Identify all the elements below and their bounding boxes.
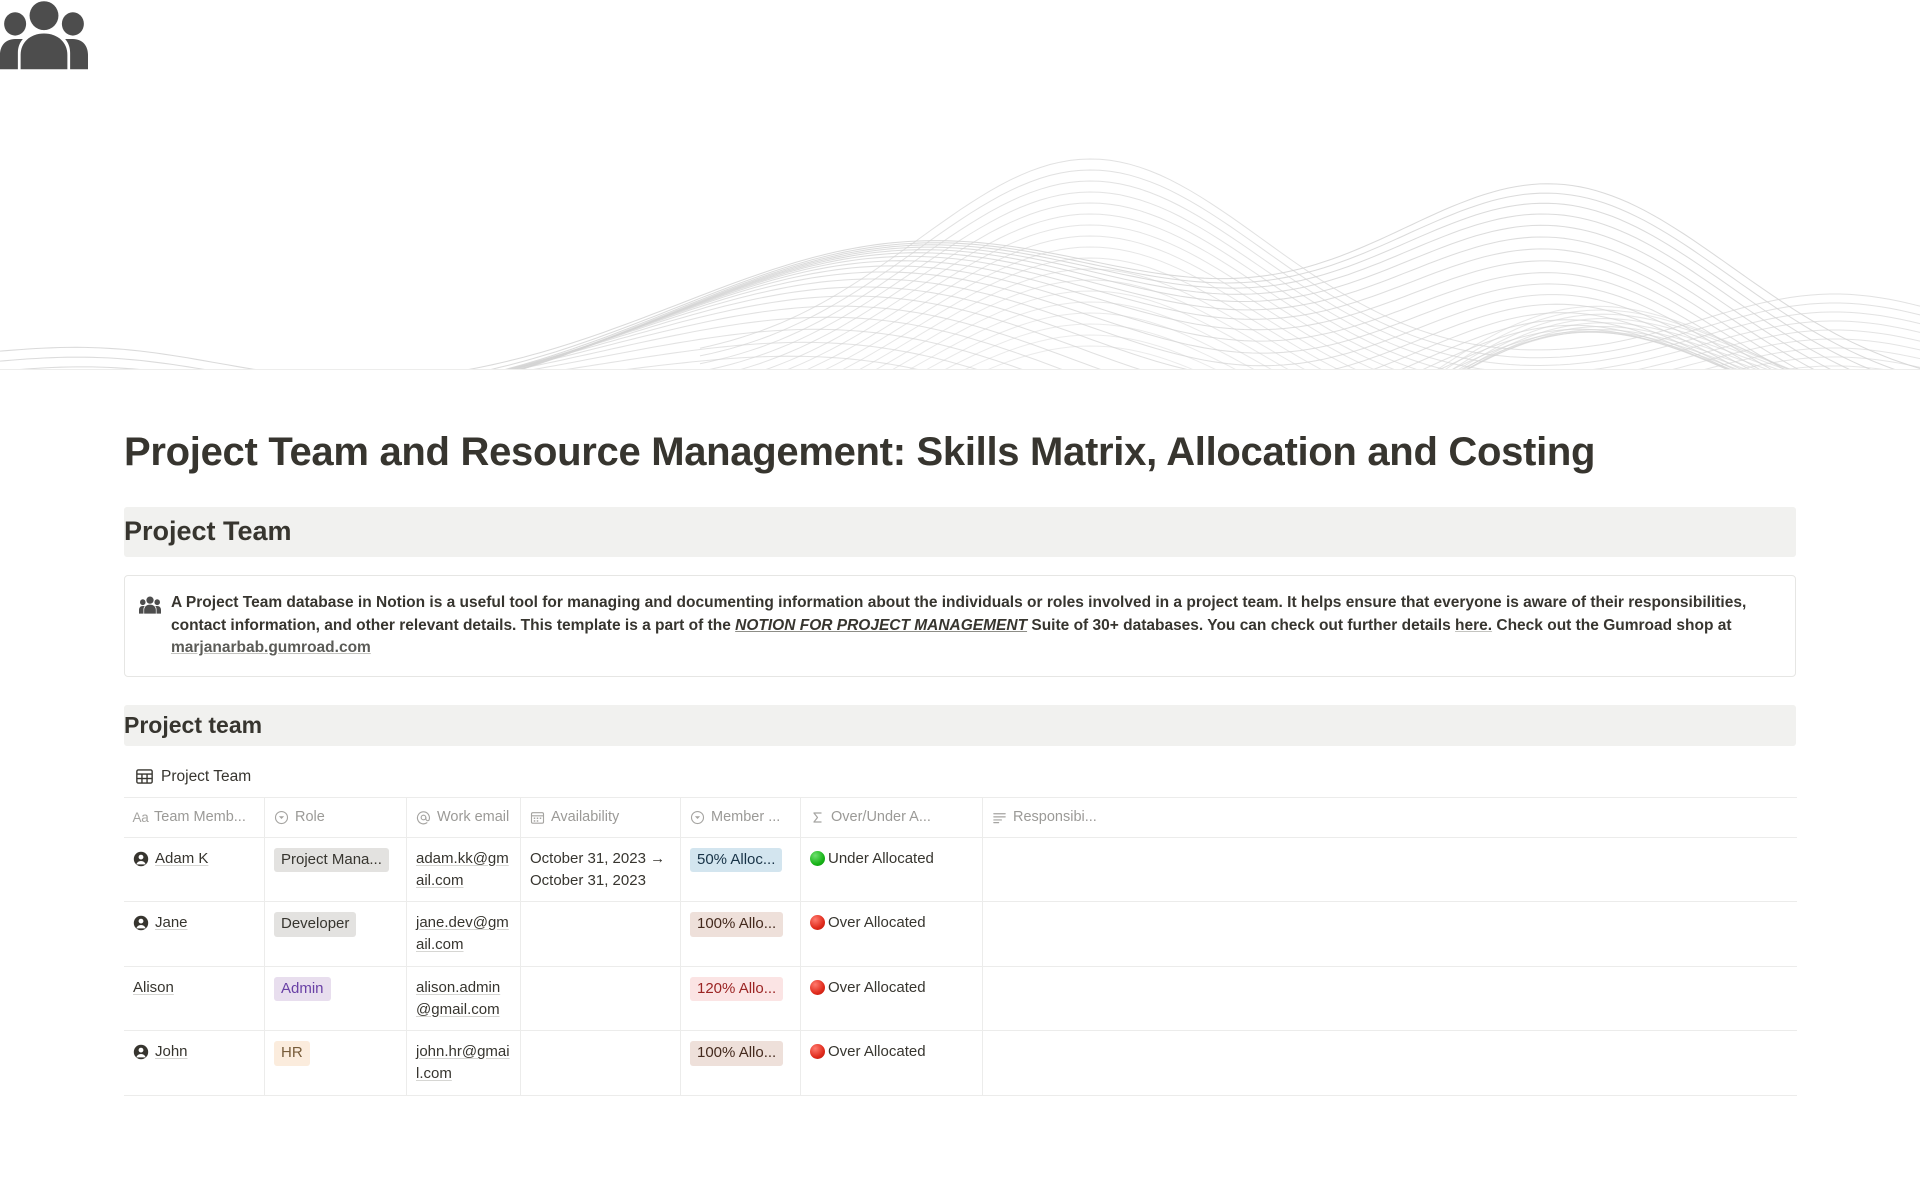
- person-name: Alison: [133, 977, 174, 999]
- status-badge: Over Allocated: [810, 1041, 926, 1063]
- status-dot-red-icon: [810, 980, 825, 995]
- role-tag: Admin: [274, 977, 331, 1001]
- cell-role[interactable]: Developer: [265, 902, 407, 966]
- cell-team-member[interactable]: Alison: [124, 967, 265, 1031]
- cell-team-member[interactable]: Jane: [124, 902, 265, 966]
- column-header-label: Member ...: [711, 807, 780, 828]
- cell-responsibilities[interactable]: [983, 967, 1797, 1031]
- table-row[interactable]: Alison Admin alison.admin@gmail.com 120%…: [124, 967, 1797, 1032]
- cell-availability[interactable]: [521, 967, 681, 1031]
- date-range: October 31, 2023 → October 31, 2023: [530, 850, 665, 889]
- section-heading-project-team: Project Team: [124, 507, 1796, 557]
- status-dot-red-icon: [810, 1044, 825, 1059]
- cell-member-allocation[interactable]: 50% Alloc...: [681, 838, 801, 902]
- callout-text-part-3: Check out the Gumroad shop at: [1492, 617, 1731, 634]
- allocation-tag: 120% Allo...: [690, 977, 783, 1001]
- column-header-label: Availability: [551, 807, 619, 828]
- table-row[interactable]: John HR john.hr@gmail.com 100% Allo... O…: [124, 1031, 1797, 1095]
- cell-availability[interactable]: October 31, 2023 → October 31, 2023: [521, 838, 681, 902]
- avatar-person-icon: [133, 1044, 149, 1060]
- email-link[interactable]: jane.dev@gmail.com: [416, 914, 509, 953]
- avatar-person-icon: [133, 915, 149, 931]
- allocation-tag: 50% Alloc...: [690, 848, 782, 872]
- cell-member-allocation[interactable]: 120% Allo...: [681, 967, 801, 1031]
- allocation-tag: 100% Allo...: [690, 1041, 783, 1065]
- cover-wave-graphic: [0, 0, 1920, 370]
- callout-text: A Project Team database in Notion is a u…: [171, 592, 1777, 660]
- cell-work-email[interactable]: alison.admin@gmail.com: [407, 967, 521, 1031]
- status-dot-green-icon: [810, 851, 825, 866]
- cell-over-under-allocation[interactable]: Over Allocated: [801, 902, 983, 966]
- cell-work-email[interactable]: adam.kk@gmail.com: [407, 838, 521, 902]
- avatar-person-icon: [133, 851, 149, 867]
- cell-responsibilities[interactable]: [983, 838, 1797, 902]
- cell-over-under-allocation[interactable]: Over Allocated: [801, 1031, 983, 1095]
- cover-divider: [0, 369, 1920, 370]
- column-header-over-under-allocation[interactable]: Over/Under A...: [801, 798, 983, 837]
- role-tag: Project Mana...: [274, 848, 389, 872]
- page-title: Project Team and Resource Management: Sk…: [124, 428, 1796, 476]
- column-header-label: Over/Under A...: [831, 807, 931, 828]
- calendar-icon: [530, 810, 545, 825]
- table-header-row: Aa Team Memb... Role Work email Availab: [124, 798, 1797, 838]
- person-name: Adam K: [155, 848, 208, 870]
- database-title-text: Project Team: [161, 768, 251, 786]
- info-callout: A Project Team database in Notion is a u…: [124, 575, 1796, 677]
- role-tag: HR: [274, 1041, 310, 1065]
- select-circle-icon: [690, 810, 705, 825]
- select-circle-icon: [274, 810, 289, 825]
- section-heading-text: Project Team: [124, 515, 1796, 549]
- cell-availability[interactable]: [521, 902, 681, 966]
- table-row[interactable]: Jane Developer jane.dev@gmail.com 100% A…: [124, 902, 1797, 967]
- column-header-label: Work email: [437, 807, 509, 828]
- person-chip[interactable]: Jane: [133, 912, 188, 934]
- email-link[interactable]: alison.admin@gmail.com: [416, 979, 500, 1018]
- status-badge: Over Allocated: [810, 977, 926, 999]
- notion-pm-suite-link[interactable]: NOTION FOR PROJECT MANAGEMENT: [735, 617, 1027, 634]
- column-header-label: Team Memb...: [154, 807, 246, 828]
- column-header-member-allocation[interactable]: Member ...: [681, 798, 801, 837]
- cell-role[interactable]: HR: [265, 1031, 407, 1095]
- email-link[interactable]: adam.kk@gmail.com: [416, 850, 509, 889]
- person-chip[interactable]: Alison: [133, 977, 174, 999]
- status-badge: Over Allocated: [810, 912, 926, 934]
- status-label: Under Allocated: [828, 848, 934, 870]
- column-header-responsibilities[interactable]: Responsibi...: [983, 798, 1797, 837]
- cell-over-under-allocation[interactable]: Under Allocated: [801, 838, 983, 902]
- email-link[interactable]: john.hr@gmail.com: [416, 1043, 510, 1082]
- database-title[interactable]: Project Team: [124, 768, 1796, 786]
- column-header-label: Responsibi...: [1013, 807, 1097, 828]
- text-lines-icon: [992, 810, 1007, 825]
- cell-member-allocation[interactable]: 100% Allo...: [681, 1031, 801, 1095]
- person-chip[interactable]: Adam K: [133, 848, 208, 870]
- status-badge: Under Allocated: [810, 848, 934, 870]
- cell-availability[interactable]: [521, 1031, 681, 1095]
- here-link[interactable]: here.: [1455, 617, 1492, 634]
- sigma-formula-icon: [810, 810, 825, 825]
- cell-role[interactable]: Project Mana...: [265, 838, 407, 902]
- person-name: Jane: [155, 912, 188, 934]
- allocation-tag: 100% Allo...: [690, 912, 783, 936]
- role-tag: Developer: [274, 912, 356, 936]
- cell-team-member[interactable]: Adam K: [124, 838, 265, 902]
- section-heading-sub-text: Project team: [124, 711, 1796, 740]
- column-header-work-email[interactable]: Work email: [407, 798, 521, 837]
- person-name: John: [155, 1041, 188, 1063]
- column-header-role[interactable]: Role: [265, 798, 407, 837]
- people-group-icon: [0, 0, 88, 78]
- cell-over-under-allocation[interactable]: Over Allocated: [801, 967, 983, 1031]
- text-aa-icon: Aa: [133, 810, 148, 825]
- status-label: Over Allocated: [828, 977, 926, 999]
- cell-responsibilities[interactable]: [983, 1031, 1797, 1095]
- status-label: Over Allocated: [828, 1041, 926, 1063]
- callout-text-part-2: Suite of 30+ databases. You can check ou…: [1027, 617, 1455, 634]
- cell-team-member[interactable]: John: [124, 1031, 265, 1095]
- cell-member-allocation[interactable]: 100% Allo...: [681, 902, 801, 966]
- project-team-table: Aa Team Memb... Role Work email Availab: [124, 797, 1797, 1096]
- cell-role[interactable]: Admin: [265, 967, 407, 1031]
- people-group-icon: [139, 595, 161, 617]
- cell-work-email[interactable]: jane.dev@gmail.com: [407, 902, 521, 966]
- page-cover: [0, 0, 1920, 370]
- status-dot-red-icon: [810, 915, 825, 930]
- at-sign-icon: [416, 810, 431, 825]
- cell-work-email[interactable]: john.hr@gmail.com: [407, 1031, 521, 1095]
- gumroad-shop-link[interactable]: marjanarbab.gumroad.com: [171, 639, 371, 656]
- cell-responsibilities[interactable]: [983, 902, 1797, 966]
- status-label: Over Allocated: [828, 912, 926, 934]
- person-chip[interactable]: John: [133, 1041, 188, 1063]
- section-heading-project-team-sub: Project team: [124, 705, 1796, 746]
- table-grid-icon: [136, 768, 153, 785]
- column-header-availability[interactable]: Availability: [521, 798, 681, 837]
- column-header-label: Role: [295, 807, 325, 828]
- page-body: Project Team and Resource Management: Sk…: [0, 428, 1920, 1096]
- column-header-team-member[interactable]: Aa Team Memb...: [124, 798, 265, 837]
- table-row[interactable]: Adam K Project Mana... adam.kk@gmail.com…: [124, 838, 1797, 903]
